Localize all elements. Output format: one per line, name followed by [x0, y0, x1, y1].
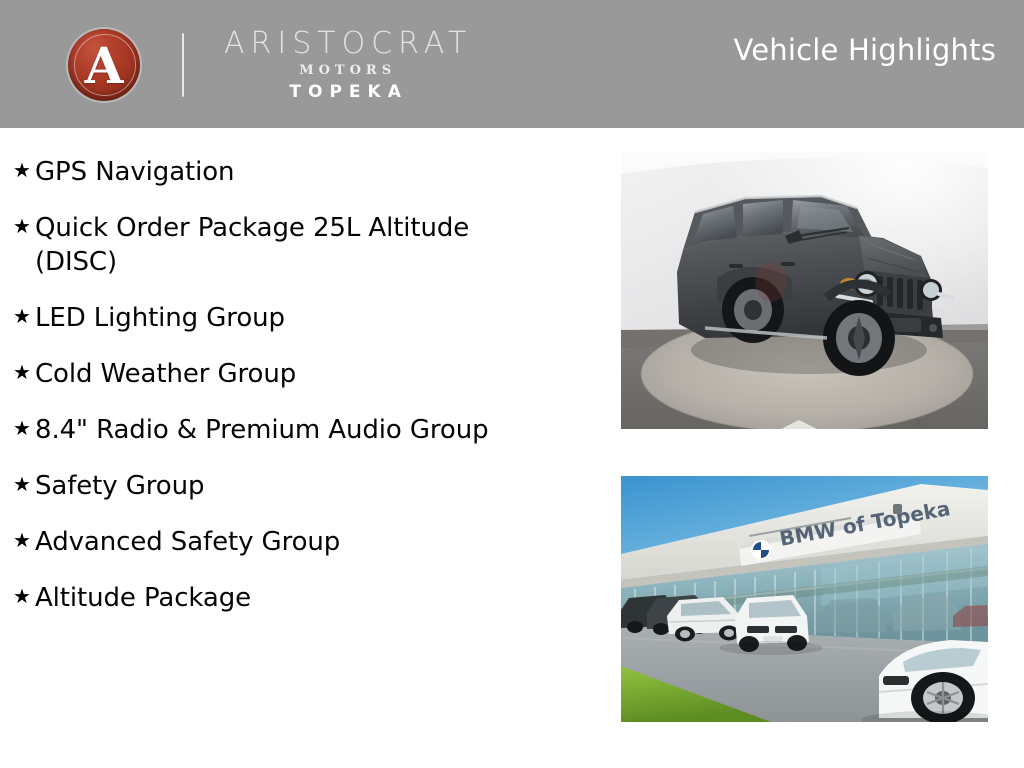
wordmark-aristocrat: ARISTOCRAT	[218, 28, 472, 60]
wordmark-motors: MOTORS	[294, 63, 396, 78]
brand-logo: A ARISTOCRAT MOTORS TOPEKA	[68, 26, 472, 104]
vehicle-photo	[621, 152, 988, 429]
list-item-label: LED Lighting Group	[35, 301, 285, 335]
list-item-label: GPS Navigation	[35, 155, 234, 189]
star-bullet-icon: ★	[13, 413, 35, 443]
brand-divider	[182, 33, 184, 97]
list-item-label: Advanced Safety Group	[35, 525, 340, 559]
list-item: ★ Cold Weather Group	[0, 357, 600, 391]
badge-letter: A	[85, 41, 124, 91]
aristocrat-badge-icon: A	[68, 29, 140, 101]
list-item-label: Cold Weather Group	[35, 357, 296, 391]
list-item-label: Quick Order Package 25L Altitude (DISC)	[35, 211, 550, 279]
list-item: ★ 8.4" Radio & Premium Audio Group	[0, 413, 600, 447]
wordmark-topeka: TOPEKA	[282, 82, 407, 102]
vehicle-photo-illustration	[621, 152, 988, 429]
star-bullet-icon: ★	[13, 357, 35, 387]
star-bullet-icon: ★	[13, 301, 35, 331]
star-bullet-icon: ★	[13, 525, 35, 555]
star-bullet-icon: ★	[13, 211, 35, 241]
vehicle-highlights-list: ★ GPS Navigation ★ Quick Order Package 2…	[0, 128, 600, 615]
list-item: ★ LED Lighting Group	[0, 301, 600, 335]
list-item-label: Altitude Package	[35, 581, 251, 615]
list-item: ★ Advanced Safety Group	[0, 525, 600, 559]
list-item: ★ Altitude Package	[0, 581, 600, 615]
page-title: Vehicle Highlights	[733, 33, 996, 67]
dealership-photo-illustration: BMW of Topeka	[621, 476, 988, 722]
list-item: ★ GPS Navigation	[0, 155, 600, 189]
brand-wordmark: ARISTOCRAT MOTORS TOPEKA	[218, 28, 472, 102]
list-item-label: Safety Group	[35, 469, 204, 503]
list-item-label: 8.4" Radio & Premium Audio Group	[35, 413, 489, 447]
page-header: A ARISTOCRAT MOTORS TOPEKA Vehicle Highl…	[0, 0, 1024, 128]
star-bullet-icon: ★	[13, 581, 35, 611]
star-bullet-icon: ★	[13, 155, 35, 185]
list-item: ★ Quick Order Package 25L Altitude (DISC…	[0, 211, 600, 279]
star-bullet-icon: ★	[13, 469, 35, 499]
list-item: ★ Safety Group	[0, 469, 600, 503]
dealership-photo: BMW of Topeka	[621, 476, 988, 722]
